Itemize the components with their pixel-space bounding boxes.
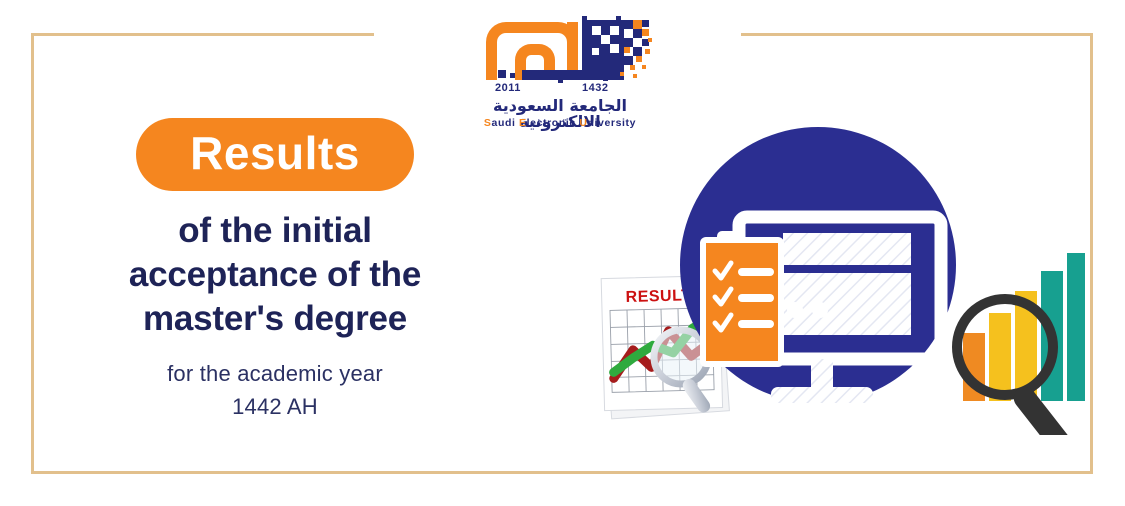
- results-badge: Results: [136, 118, 414, 191]
- frame-border-bottom: [31, 471, 1093, 474]
- logo-year-gregorian: 2011: [495, 82, 521, 94]
- page-subtitle: for the academic year 1442 AH: [60, 357, 490, 423]
- headline-block: Results of the initial acceptance of the…: [60, 118, 490, 423]
- headline-line-1: of the initial: [60, 209, 490, 253]
- bar-5: [1067, 253, 1085, 401]
- frame-border-top-right: [741, 33, 1093, 36]
- logo-mark-icon: [470, 18, 650, 84]
- poster-canvas: 2011 1432 الجامعة السعودية الالكترونية S…: [0, 0, 1125, 506]
- subtitle-line-1: for the academic year: [60, 357, 490, 390]
- headline-line-3: master's degree: [60, 297, 490, 341]
- results-analytics-illustration: RESULTS: [595, 105, 1085, 435]
- logo-year-hijri: 1432: [582, 82, 608, 94]
- bar-chart-group: [957, 253, 1085, 435]
- subtitle-line-2: 1442 AH: [60, 390, 490, 423]
- clipboard-icon: [700, 231, 784, 367]
- bar-2: [989, 313, 1011, 401]
- frame-border-left: [31, 33, 34, 474]
- headline-line-2: acceptance of the: [60, 253, 490, 297]
- page-title: of the initial acceptance of the master'…: [60, 209, 490, 341]
- frame-border-right: [1090, 33, 1093, 474]
- frame-border-top-left: [31, 33, 374, 36]
